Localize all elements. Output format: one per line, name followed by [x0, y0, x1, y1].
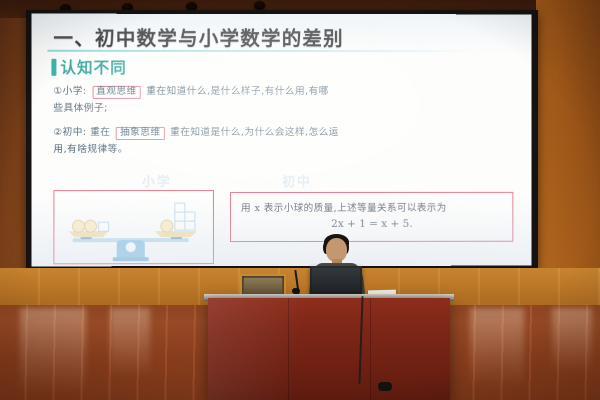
podium-panel-seam — [288, 298, 289, 400]
watermark-primary-school: 小学 — [142, 171, 172, 190]
equation-expression: 2x + 1 = x + 5. — [231, 218, 512, 230]
body-line-1-rest: 重在知道什么,是什么样子,有什么用,有哪 — [146, 86, 328, 97]
presentation-slide: 一、初中数学与小学数学的差别 认知不同 ①小学: 直观思维 重在知道什么,是什么… — [31, 14, 531, 267]
cable-floor-box — [378, 382, 392, 391]
body-line-1: ①小学: 直观思维 重在知道什么,是什么样子,有什么用,有哪 — [53, 86, 328, 99]
body-line-3-rest: 重在知道是什么,为什么会这样,怎么运 — [170, 127, 339, 138]
equation-box: 用 x 表示小球的质量,上述等量关系可以表示为 2x + 1 = x + 5. — [230, 192, 513, 242]
floor-reflection — [20, 308, 86, 394]
slide-subtitle: 认知不同 — [60, 56, 126, 78]
equation-description: 用 x 表示小球的质量,上述等量关系可以表示为 — [241, 200, 447, 214]
slide-title: 一、初中数学与小学数学的差别 — [53, 22, 343, 51]
presenter-laptop — [310, 266, 362, 296]
podium-panel-seam — [370, 298, 371, 400]
floor-reflection — [552, 308, 592, 374]
title-underline — [47, 50, 477, 52]
wall-right — [536, 0, 600, 270]
lecture-hall-scene: 一、初中数学与小学数学的差别 认知不同 ①小学: 直观思维 重在知道什么,是什么… — [0, 0, 600, 400]
laptop-screen — [312, 268, 360, 292]
body-line-3: ②初中: 重在 抽象思维 重在知道是什么,为什么会这样,怎么运 — [53, 127, 338, 140]
body-line-1-prefix: ①小学: — [53, 86, 86, 97]
podium-sheen — [208, 298, 450, 400]
subtitle-accent-bar — [51, 58, 56, 75]
balance-scale-icon — [54, 191, 213, 263]
body-line-3-prefix: ②初中: — [53, 127, 86, 138]
figure-box-balance-scale — [53, 190, 214, 264]
body-line-4: 用,有啥规律等。 — [53, 145, 128, 156]
watermark-middle-school: 初中 — [282, 171, 312, 190]
floor-reflection — [110, 308, 150, 378]
slide-subtitle-group: 认知不同 — [51, 56, 126, 78]
floor-reflection — [470, 308, 524, 388]
projection-screen: 一、初中数学与小学数学的差别 认知不同 ①小学: 直观思维 重在知道什么,是什么… — [31, 14, 531, 267]
boxed-term-intuitive-thinking: 直观思维 — [92, 86, 141, 99]
ceiling-light-icon — [254, 1, 265, 10]
body-line-2: 些具体例子; — [53, 104, 107, 115]
body-line-3-mid: 重在 — [90, 127, 110, 138]
boxed-term-abstract-thinking: 抽象思维 — [116, 127, 165, 140]
podium — [208, 298, 450, 400]
